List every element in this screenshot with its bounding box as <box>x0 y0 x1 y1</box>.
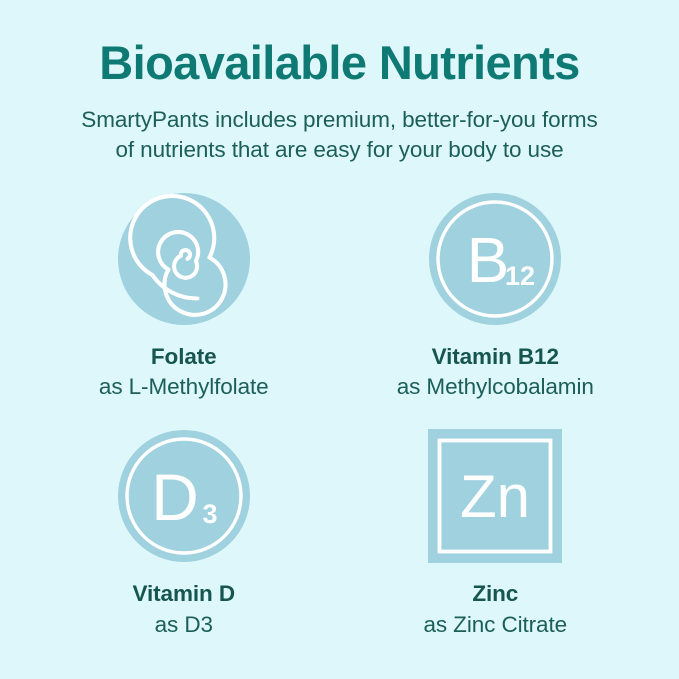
nutrient-form: as D3 <box>133 610 235 639</box>
nutrient-name: Vitamin D <box>133 580 235 607</box>
nutrient-labels: Vitamin D as D3 <box>133 580 235 639</box>
page-title: Bioavailable Nutrients <box>0 38 679 87</box>
nutrient-labels: Vitamin B12 as Methylcobalamin <box>397 343 594 402</box>
subtitle-line-2: of nutrients that are easy for your body… <box>25 135 655 165</box>
d3-icon: D 3 <box>117 429 251 563</box>
nutrient-form: as Methylcobalamin <box>397 372 594 401</box>
nutrient-grid: Folate as L-Methylfolate B 12 Vitamin B1… <box>0 192 679 639</box>
nutrient-form: as L-Methylfolate <box>99 372 269 401</box>
nutrient-form: as Zinc Citrate <box>423 610 567 639</box>
svg-text:B: B <box>467 224 510 296</box>
nutrient-labels: Folate as L-Methylfolate <box>99 343 269 402</box>
nutrient-card-vitamin-d: D 3 Vitamin D as D3 <box>28 425 340 639</box>
nutrient-labels: Zinc as Zinc Citrate <box>423 580 567 639</box>
nutrient-card-zinc: Zn Zinc as Zinc Citrate <box>340 425 652 639</box>
b12-icon: B 12 <box>428 192 562 326</box>
svg-text:3: 3 <box>202 499 217 529</box>
zinc-icon: Zn <box>428 429 562 563</box>
subtitle-line-1: SmartyPants includes premium, better-for… <box>25 105 655 135</box>
svg-text:Zn: Zn <box>460 463 530 530</box>
nutrient-name: Folate <box>99 343 269 370</box>
infographic-page: Bioavailable Nutrients SmartyPants inclu… <box>0 0 679 679</box>
svg-text:D: D <box>151 460 199 534</box>
nutrient-card-folate: Folate as L-Methylfolate <box>28 192 340 402</box>
spiral-icon <box>117 192 251 326</box>
nutrient-name: Vitamin B12 <box>397 343 594 370</box>
header: Bioavailable Nutrients SmartyPants inclu… <box>0 0 679 166</box>
subtitle: SmartyPants includes premium, better-for… <box>25 105 655 165</box>
svg-text:12: 12 <box>505 261 535 291</box>
nutrient-card-vitamin-b12: B 12 Vitamin B12 as Methylcobalamin <box>340 192 652 402</box>
nutrient-name: Zinc <box>423 580 567 607</box>
